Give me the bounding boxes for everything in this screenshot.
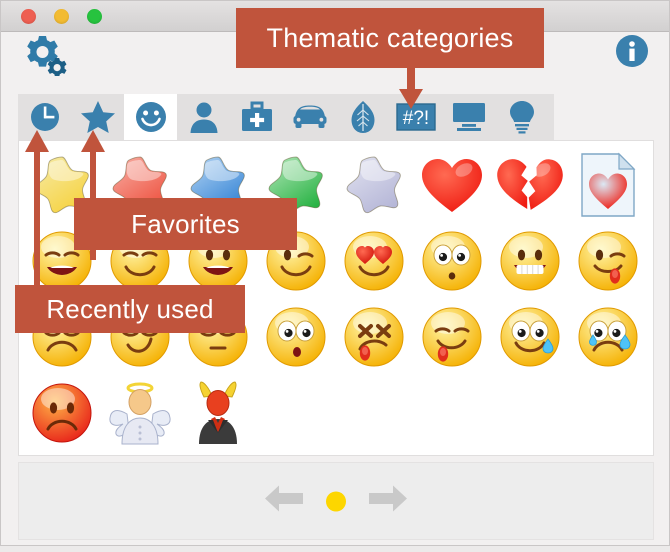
page-indicator-dot[interactable] bbox=[326, 491, 346, 511]
emoji-heart-red[interactable] bbox=[413, 147, 491, 223]
emoji-smiley-wink-tongue[interactable] bbox=[569, 223, 647, 299]
heart-red-glyph bbox=[419, 154, 485, 216]
annotation-recently-used: Recently used bbox=[15, 285, 245, 333]
sidebar-item-smileys[interactable] bbox=[124, 94, 177, 140]
smiley-wink-tongue-glyph bbox=[576, 229, 640, 293]
minimize-window-button[interactable] bbox=[54, 9, 69, 24]
info-button[interactable] bbox=[615, 34, 649, 68]
info-icon bbox=[615, 34, 649, 68]
smiley-angry-red-glyph bbox=[30, 381, 94, 445]
arrow-right-icon bbox=[368, 484, 408, 514]
emoji-smiley-shocked[interactable] bbox=[257, 299, 335, 375]
angel-glyph bbox=[109, 380, 171, 446]
emoji-smiley-angry-red[interactable] bbox=[23, 375, 101, 451]
emoji-heart-broken[interactable] bbox=[491, 147, 569, 223]
smiley-shocked-glyph bbox=[264, 305, 328, 369]
emoji-devil[interactable] bbox=[179, 375, 257, 451]
close-window-button[interactable] bbox=[21, 9, 36, 24]
emoji-smiley-sweat-smile[interactable] bbox=[491, 299, 569, 375]
application-window: #?! bbox=[0, 0, 670, 546]
star-silver-glyph bbox=[341, 153, 407, 217]
sidebar-item-ideas[interactable] bbox=[495, 94, 548, 140]
pagination-bar bbox=[18, 462, 654, 540]
person-icon bbox=[188, 100, 220, 134]
emoji-love-letter[interactable] bbox=[569, 147, 647, 223]
arrow-left-icon bbox=[264, 484, 304, 514]
sidebar-item-health[interactable] bbox=[230, 94, 283, 140]
medical-bag-icon bbox=[240, 101, 274, 133]
emoji-angel[interactable] bbox=[101, 375, 179, 451]
smiley-heart-eyes-glyph bbox=[342, 229, 406, 293]
emoji-star-silver[interactable] bbox=[335, 147, 413, 223]
smiley-icon bbox=[133, 99, 169, 135]
emoji-smiley-crying[interactable] bbox=[569, 299, 647, 375]
annotation-favorites: Favorites bbox=[74, 198, 297, 250]
sidebar-item-nature[interactable] bbox=[336, 94, 389, 140]
annotation-thematic-categories: Thematic categories bbox=[236, 8, 544, 68]
love-letter-glyph bbox=[579, 152, 637, 218]
maximize-window-button[interactable] bbox=[87, 9, 102, 24]
emoji-smiley-surprised-big-eyes[interactable] bbox=[413, 223, 491, 299]
annotation-arrow-thematic bbox=[398, 62, 424, 110]
leaf-icon bbox=[348, 100, 378, 134]
svg-text:#?!: #?! bbox=[402, 108, 428, 129]
clock-icon bbox=[28, 100, 62, 134]
previous-page-button[interactable] bbox=[264, 484, 304, 519]
emoji-smiley-yum[interactable] bbox=[413, 299, 491, 375]
bulb-icon bbox=[509, 100, 535, 134]
devil-glyph bbox=[187, 380, 249, 446]
smiley-big-grin-glyph bbox=[498, 229, 562, 293]
smiley-yum-glyph bbox=[420, 305, 484, 369]
car-icon bbox=[292, 103, 328, 131]
emoji-smiley-heart-eyes[interactable] bbox=[335, 223, 413, 299]
sidebar-item-travel[interactable] bbox=[283, 94, 336, 140]
smiley-surprised-big-eyes-glyph bbox=[420, 229, 484, 293]
gear-icon bbox=[23, 34, 67, 76]
smiley-crying-glyph bbox=[576, 305, 640, 369]
settings-button[interactable] bbox=[23, 34, 67, 74]
emoji-smiley-big-grin[interactable] bbox=[491, 223, 569, 299]
next-page-button[interactable] bbox=[368, 484, 408, 519]
monitor-icon bbox=[451, 102, 487, 132]
emoji-smiley-dead[interactable] bbox=[335, 299, 413, 375]
sidebar-item-objects[interactable] bbox=[442, 94, 495, 140]
heart-broken-glyph bbox=[497, 154, 563, 216]
smiley-sweat-smile-glyph bbox=[498, 305, 562, 369]
star-icon bbox=[80, 100, 116, 134]
sidebar-item-people[interactable] bbox=[177, 94, 230, 140]
smiley-dead-glyph bbox=[342, 305, 406, 369]
